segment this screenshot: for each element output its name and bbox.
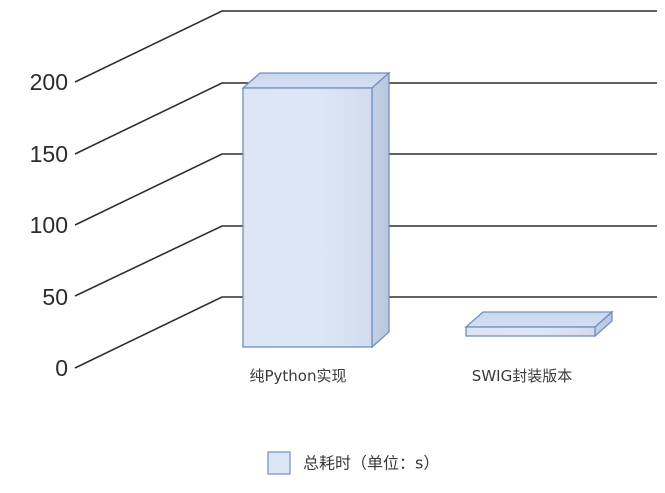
y-tick-label-50: 50 [42,284,68,310]
y-tick-label-100: 100 [30,212,68,238]
bar-pure-python-top-face [243,73,389,88]
bar-chart-3d: 200 150 100 50 0 纯Python实现 SWIG封装版本 总耗时（… [0,0,665,493]
bar-swig-wrapper-top-face [466,312,612,327]
x-tick-label-pure-python: 纯Python实现 [250,367,347,385]
legend: 总耗时（单位：s） [268,452,439,474]
y-tick-label-200: 200 [30,69,68,95]
bar-pure-python-side-face [372,73,389,347]
x-axis-labels: 纯Python实现 SWIG封装版本 [250,367,573,385]
bar-pure-python-front-face [243,88,372,347]
y-axis-labels: 200 150 100 50 0 [30,69,68,381]
chart-canvas: 200 150 100 50 0 纯Python实现 SWIG封装版本 总耗时（… [0,0,665,493]
bar-swig-wrapper-front-face [466,327,595,336]
y-tick-label-150: 150 [30,141,68,167]
bar-pure-python[interactable] [243,73,389,347]
bar-swig-wrapper[interactable] [466,312,612,336]
y-tick-label-0: 0 [55,355,68,381]
legend-label-total-time: 总耗时（单位：s） [303,454,439,473]
legend-swatch-total-time [268,452,290,474]
gridline-250 [75,11,657,82]
x-tick-label-swig: SWIG封装版本 [472,367,572,385]
